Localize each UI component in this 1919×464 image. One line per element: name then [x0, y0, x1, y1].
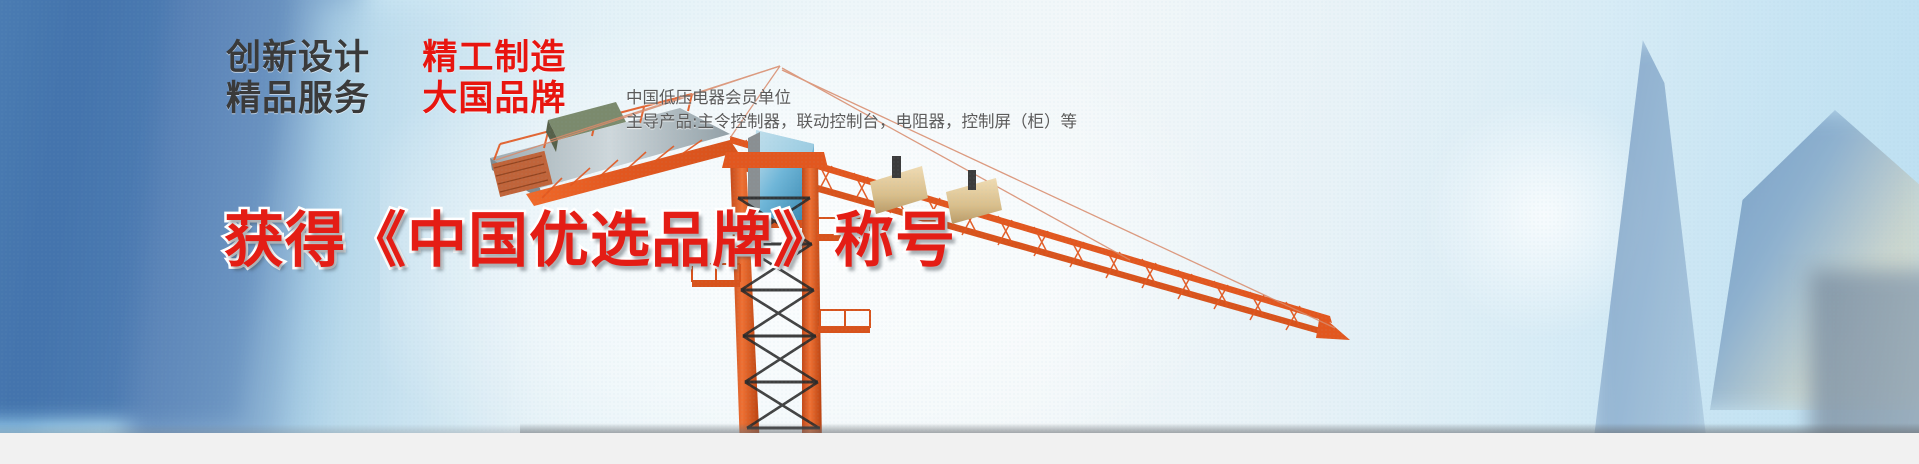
- slogan-line-1: 创新设计 精工制造: [226, 38, 566, 79]
- slogan-line-1-dark: 创新设计: [226, 38, 370, 78]
- slogan-line-1-red: 精工制造: [422, 38, 566, 78]
- promo-banner: 创新设计 精工制造 精品服务 大国品牌 中国低压电器会员单位 主导产品:主令控制…: [0, 0, 1919, 464]
- products-line: 主导产品:主令控制器，联动控制台，电阻器，控制屏（柜）等: [626, 110, 1077, 134]
- slogan-block: 创新设计 精工制造 精品服务 大国品牌: [226, 38, 566, 121]
- slogan-line-2-red: 大国品牌: [422, 79, 566, 119]
- slogan-line-2: 精品服务 大国品牌: [226, 79, 566, 120]
- bottom-strip: [0, 433, 1919, 464]
- slogan-line-2-dark: 精品服务: [226, 79, 370, 119]
- subtext-block: 中国低压电器会员单位 主导产品:主令控制器，联动控制台，电阻器，控制屏（柜）等: [626, 86, 1077, 135]
- headline-award: 获得《中国优选品牌》称号: [224, 192, 956, 279]
- membership-line: 中国低压电器会员单位: [626, 86, 1077, 110]
